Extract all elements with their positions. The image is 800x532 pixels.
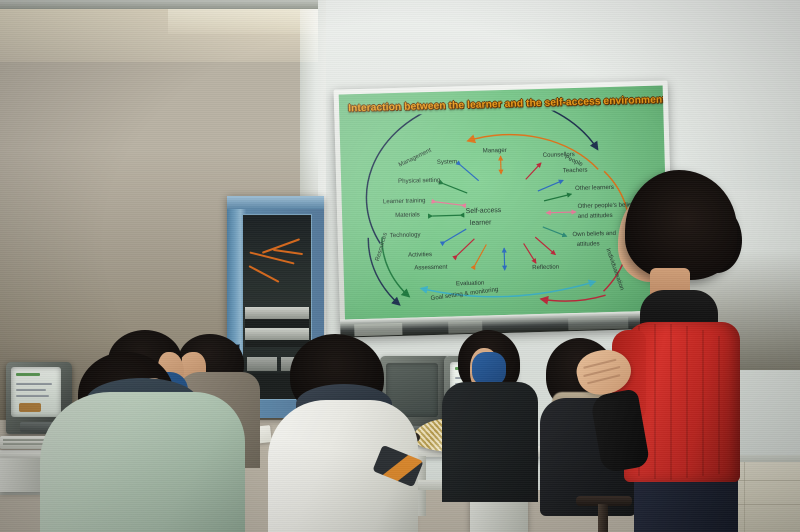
label-materials: Materials [395, 211, 420, 219]
student-hoodie [40, 392, 245, 532]
label-own-beliefs-1: Own beliefs and [572, 230, 616, 238]
student-dark-coat-body [442, 382, 538, 502]
label-counsellors: Counsellors [543, 151, 575, 159]
classroom-photo: Interaction between the learner and the … [0, 0, 800, 532]
label-other-learners: Other learners [575, 184, 614, 192]
label-management: Management [398, 147, 433, 169]
label-own-beliefs-2: attitudes [577, 240, 600, 248]
label-technology: Technology [390, 231, 422, 239]
label-activities: Activities [408, 251, 432, 259]
label-physical-setting: Physical setting [398, 177, 441, 185]
curtain-rail [0, 0, 318, 9]
label-other-beliefs-2: and attitudes [578, 212, 613, 220]
label-system: System [437, 158, 457, 166]
teacher-hair [625, 170, 737, 280]
stool-leg [598, 504, 608, 532]
label-manager: Manager [483, 147, 507, 155]
cabinet-top [227, 196, 324, 209]
label-reflection: Reflection [532, 263, 560, 271]
label-assessment: Assessment [414, 264, 448, 272]
label-center-2: learner [470, 219, 492, 227]
self-access-diagram: Management People Resources Individualis… [339, 108, 669, 320]
student-dark-coat-scarf [472, 352, 506, 386]
label-learner-training: Learner training [383, 197, 426, 205]
label-goal-setting: Goal setting & monitoring [430, 286, 499, 302]
pc-tower-left [0, 458, 44, 492]
label-center-1: Self-access [466, 207, 502, 215]
label-teachers: Teachers [563, 167, 588, 175]
label-evaluation: Evaluation [456, 280, 485, 288]
projection-screen: Interaction between the learner and the … [334, 80, 675, 337]
projected-slide: Interaction between the learner and the … [339, 86, 669, 320]
